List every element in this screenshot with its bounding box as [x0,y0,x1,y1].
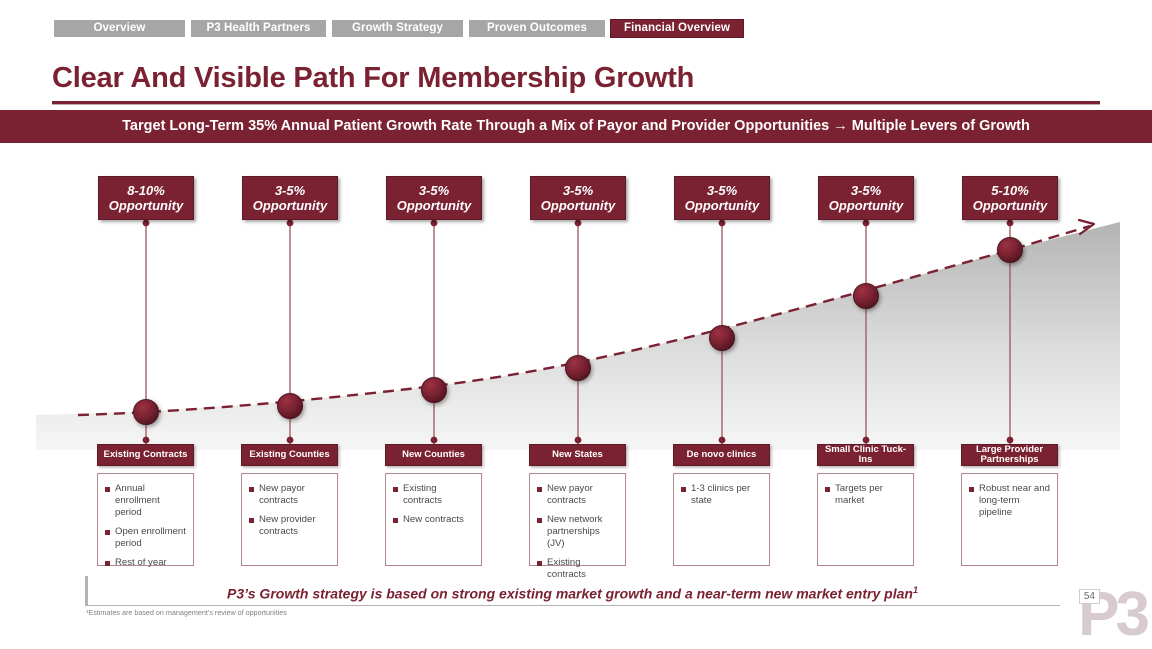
lever-card-body: New payor contracts New provider contrac… [241,473,338,566]
chart-marker-1 [134,400,159,425]
list-item: New payor contracts [249,483,331,507]
page-title: Clear And Visible Path For Membership Gr… [52,62,694,95]
lever-card-title: New Counties [385,444,482,466]
list-item: Existing contracts [393,483,475,507]
conclusion-text: P3’s Growth strategy is based on strong … [227,586,913,602]
chart-top-anchor-dots [143,220,1014,227]
chart-marker-4 [566,356,591,381]
opportunity-pct: 3-5% [819,183,913,198]
list-item: New network partnerships (JV) [537,514,619,550]
lever-card-large-provider-partnerships: Large Provider Partnerships Robust near … [961,444,1058,566]
lever-card-title: Existing Contracts [97,444,194,466]
chart-marker-2 [278,394,303,419]
opportunity-word: Opportunity [819,198,913,213]
lever-card-small-clinic-tuck-ins: Small Clinic Tuck-Ins Targets per market [817,444,914,566]
title-divider-shadow [52,104,1100,105]
opportunity-word: Opportunity [531,198,625,213]
opportunity-word: Opportunity [963,198,1057,213]
opportunity-pct: 8-10% [99,183,193,198]
footnote: ¹Estimates are based on management’s rev… [86,608,287,617]
list-item: Robust near and long-term pipeline [969,483,1051,519]
opportunity-word: Opportunity [99,198,193,213]
opportunity-word: Opportunity [675,198,769,213]
lever-card-title: Large Provider Partnerships [961,444,1058,466]
opportunity-badge-new-states: 3-5% Opportunity [530,176,626,220]
lever-card-existing-contracts: Existing Contracts Annual enrollment per… [97,444,194,566]
lever-card-title: De novo clinics [673,444,770,466]
list-item: 1-3 clinics per state [681,483,763,507]
lever-card-body: Existing contracts New contracts [385,473,482,566]
section-nav: Overview P3 Health Partners Growth Strat… [54,20,743,37]
lever-card-title: Small Clinic Tuck-Ins [817,444,914,466]
list-item: Annual enrollment period [105,483,187,519]
conclusion-divider [85,605,1060,606]
list-item: New contracts [393,514,475,526]
opportunity-pct: 3-5% [387,183,481,198]
subtitle-banner-text: Target Long-Term 35% Annual Patient Grow… [0,110,1152,143]
opportunity-badge-large-provider-partnerships: 5-10% Opportunity [962,176,1058,220]
lever-card-body: Robust near and long-term pipeline [961,473,1058,566]
opportunity-pct: 3-5% [675,183,769,198]
lever-card-new-counties: New Counties Existing contracts New cont… [385,444,482,566]
lever-card-body: Annual enrollment period Open enrollment… [97,473,194,566]
opportunity-word: Opportunity [243,198,337,213]
lever-card-body: 1-3 clinics per state [673,473,770,566]
chart-marker-6 [854,284,879,309]
lever-card-title: Existing Counties [241,444,338,466]
opportunity-pct: 3-5% [243,183,337,198]
opportunity-pct: 3-5% [531,183,625,198]
lever-card-new-states: New States New payor contracts New netwo… [529,444,626,566]
lever-card-existing-counties: Existing Counties New payor contracts Ne… [241,444,338,566]
lever-card-body: New payor contracts New network partners… [529,473,626,566]
lever-card-body: Targets per market [817,473,914,566]
conclusion-footnote-marker: 1 [913,585,918,595]
nav-tab-proven-outcomes[interactable]: Proven Outcomes [469,20,605,37]
lever-card-title: New States [529,444,626,466]
conclusion-callout: P3’s Growth strategy is based on strong … [85,576,1060,606]
chart-marker-7 [998,238,1023,263]
opportunity-badge-existing-counties: 3-5% Opportunity [242,176,338,220]
chart-marker-3 [422,378,447,403]
list-item: New payor contracts [537,483,619,507]
list-item: Rest of year [105,557,187,569]
opportunity-badge-new-counties: 3-5% Opportunity [386,176,482,220]
nav-tab-financial-overview[interactable]: Financial Overview [611,20,743,37]
list-item: New provider contracts [249,514,331,538]
opportunity-badge-existing-contracts: 8-10% Opportunity [98,176,194,220]
list-item: Open enrollment period [105,526,187,550]
subtitle-banner: Target Long-Term 35% Annual Patient Grow… [0,110,1152,143]
nav-tab-overview[interactable]: Overview [54,20,185,37]
chart-marker-5 [710,326,735,351]
opportunity-badge-small-clinic-tuck-ins: 3-5% Opportunity [818,176,914,220]
opportunity-pct: 5-10% [963,183,1057,198]
opportunity-word: Opportunity [387,198,481,213]
nav-tab-growth-strategy[interactable]: Growth Strategy [332,20,463,37]
nav-tab-p3-health-partners[interactable]: P3 Health Partners [191,20,326,37]
conclusion-text-wrapper: P3’s Growth strategy is based on strong … [85,576,1060,604]
slide: Overview P3 Health Partners Growth Strat… [0,0,1152,648]
page-number: 54 [1079,589,1100,604]
lever-card-de-novo-clinics: De novo clinics 1-3 clinics per state [673,444,770,566]
list-item: Targets per market [825,483,907,507]
opportunity-badge-de-novo-clinics: 3-5% Opportunity [674,176,770,220]
